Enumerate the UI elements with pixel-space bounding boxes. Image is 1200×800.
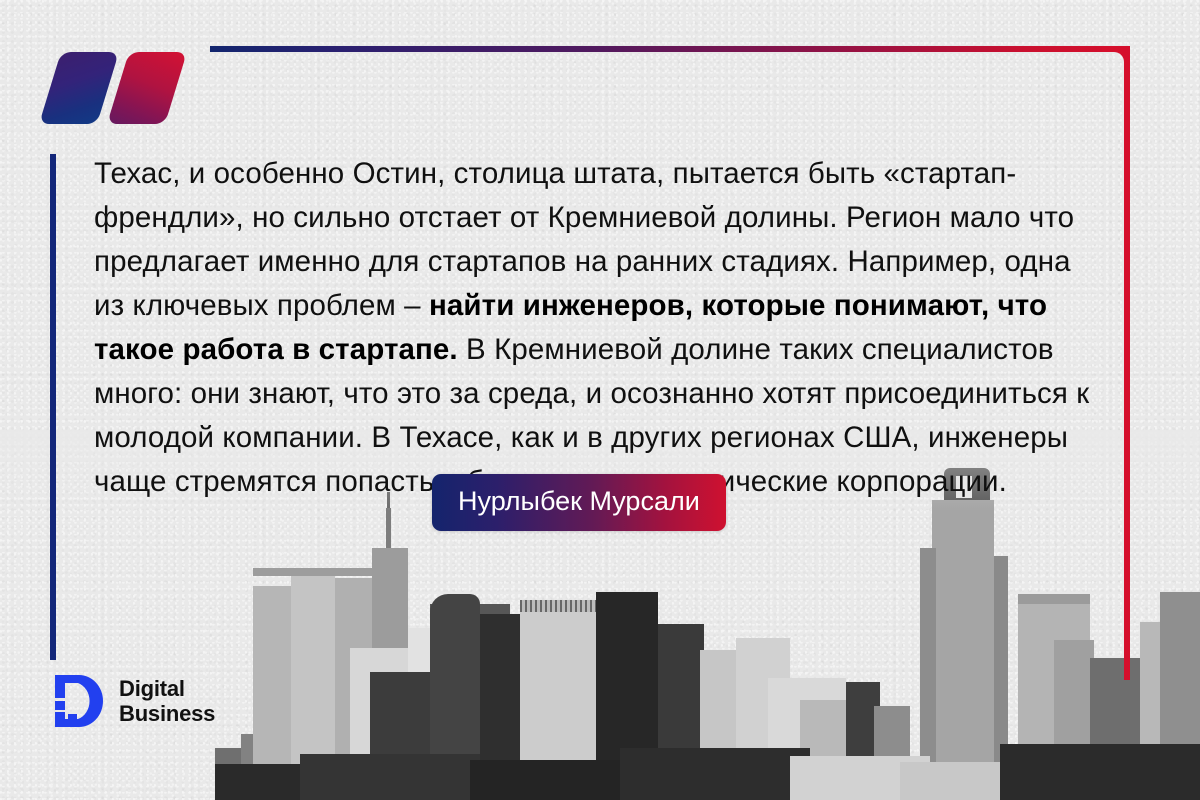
- digital-business-d-mark-icon: [52, 672, 106, 730]
- quote-bar-left: [39, 52, 119, 124]
- building: [620, 748, 810, 800]
- author-name-badge: Нурлыбек Мурсали: [432, 474, 726, 531]
- quote-bar-right: [107, 52, 187, 124]
- quote-body-text: Техас, и особенно Остин, столица штата, …: [94, 152, 1094, 504]
- logo-line-business: Business: [119, 701, 215, 726]
- building: [932, 500, 994, 800]
- building-crown: [1018, 594, 1090, 604]
- digital-business-logo: Digital Business: [52, 672, 215, 730]
- building: [470, 760, 640, 800]
- right-border-rule: [1124, 46, 1130, 680]
- building-spire: [386, 508, 391, 548]
- top-border-rule: [210, 46, 1130, 52]
- logo-wordmark: Digital Business: [119, 676, 215, 726]
- building-crown: [520, 600, 606, 612]
- left-border-rule: [50, 154, 56, 660]
- quotation-mark-icon: [50, 52, 180, 124]
- logo-line-digital: Digital: [119, 676, 215, 701]
- building: [1000, 744, 1200, 800]
- quote-card: Техас, и особенно Остин, столица штата, …: [0, 0, 1200, 800]
- building-crown: [253, 568, 375, 576]
- building: [300, 754, 480, 800]
